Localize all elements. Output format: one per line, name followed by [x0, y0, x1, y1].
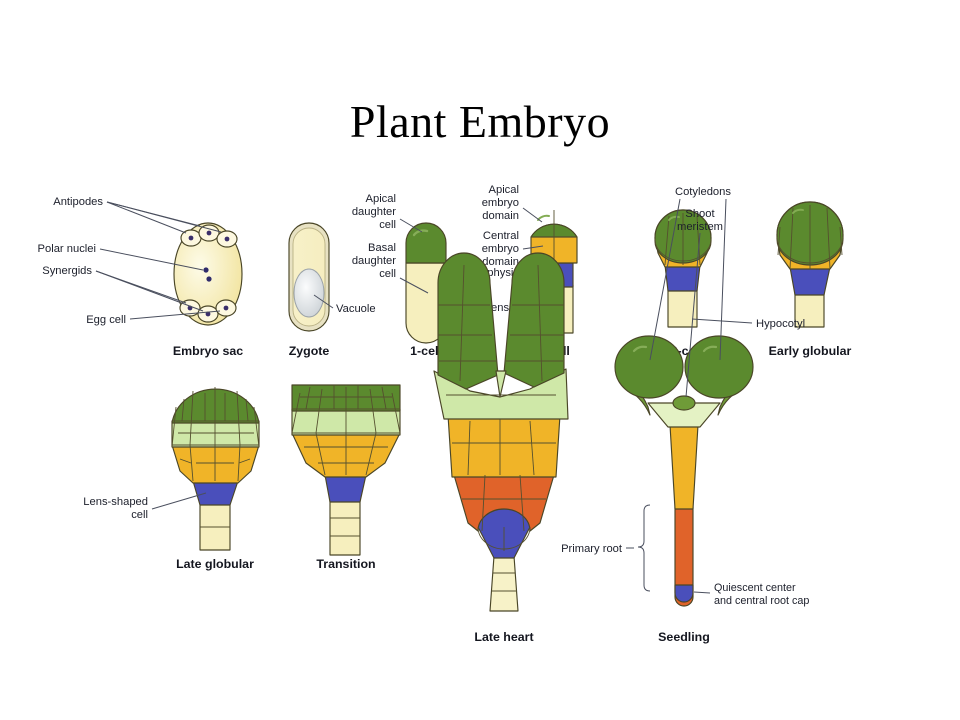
caption-transition: Transition	[316, 557, 375, 571]
label-lens-shaped-cell-line1: Lens-shaped	[83, 496, 148, 508]
label-shoot-meristem-line2: meristem	[677, 221, 723, 233]
label-central-embryo-domain-line2: embryo	[482, 243, 519, 255]
page-title: Plant Embryo	[0, 95, 960, 148]
label-apical-daughter-cell-line2: daughter	[352, 206, 396, 218]
label-lens-shaped-cell-line2: cell	[131, 509, 148, 521]
label-apical-embryo-domain-line2: embryo	[482, 197, 519, 209]
label-apical-daughter-cell-line1: Apical	[366, 193, 396, 205]
stage-early-globular: Early globular	[769, 202, 852, 358]
label-antipodes: Antipodes	[53, 196, 103, 208]
stage-zygote: Vacuole Zygote	[289, 223, 376, 358]
label-primary-root: Primary root	[561, 543, 623, 555]
label-shoot-meristem-line1: Shoot	[685, 208, 715, 220]
caption-late-heart: Late heart	[474, 630, 533, 644]
label-egg-cell: Egg cell	[86, 314, 126, 326]
stage-1-cell: Apical daughter cell Basal daughter cell…	[352, 193, 446, 358]
caption-embryo-sac: Embryo sac	[173, 344, 243, 358]
stage-embryo-sac: Antipodes Polar nuclei Synergids Egg cel…	[38, 196, 244, 358]
caption-late-globular: Late globular	[176, 557, 254, 571]
label-hypocotyl: Hypocotyl	[756, 318, 805, 330]
caption-zygote: Zygote	[289, 344, 330, 358]
label-synergids: Synergids	[42, 265, 92, 277]
label-cotyledons: Cotyledons	[675, 186, 731, 198]
label-polar-nuclei: Polar nuclei	[38, 243, 96, 255]
label-apical-embryo-domain-line3: domain	[482, 210, 519, 222]
label-basal-daughter-cell-line1: Basal	[368, 242, 396, 254]
label-central-embryo-domain-line1: Central	[483, 230, 519, 242]
caption-seedling: Seedling	[658, 630, 710, 644]
label-apical-daughter-cell-line3: cell	[379, 219, 396, 231]
caption-early-globular: Early globular	[769, 344, 852, 358]
label-vacuole: Vacuole	[336, 303, 376, 315]
label-quiescent-center-line2: and central root cap	[714, 595, 809, 607]
label-basal-daughter-cell-line3: cell	[379, 268, 396, 280]
stage-late-globular: Lens-shaped cell Late globular	[83, 387, 259, 571]
plant-embryo-figure: Antipodes Polar nuclei Synergids Egg cel…	[0, 175, 960, 675]
label-apical-embryo-domain-line1: Apical	[489, 184, 519, 196]
caption-1-cell: 1-cell	[410, 344, 442, 358]
label-basal-daughter-cell-line2: daughter	[352, 255, 396, 267]
stage-transition: Transition	[292, 385, 400, 571]
label-quiescent-center-line1: Quiescent center	[714, 582, 796, 594]
